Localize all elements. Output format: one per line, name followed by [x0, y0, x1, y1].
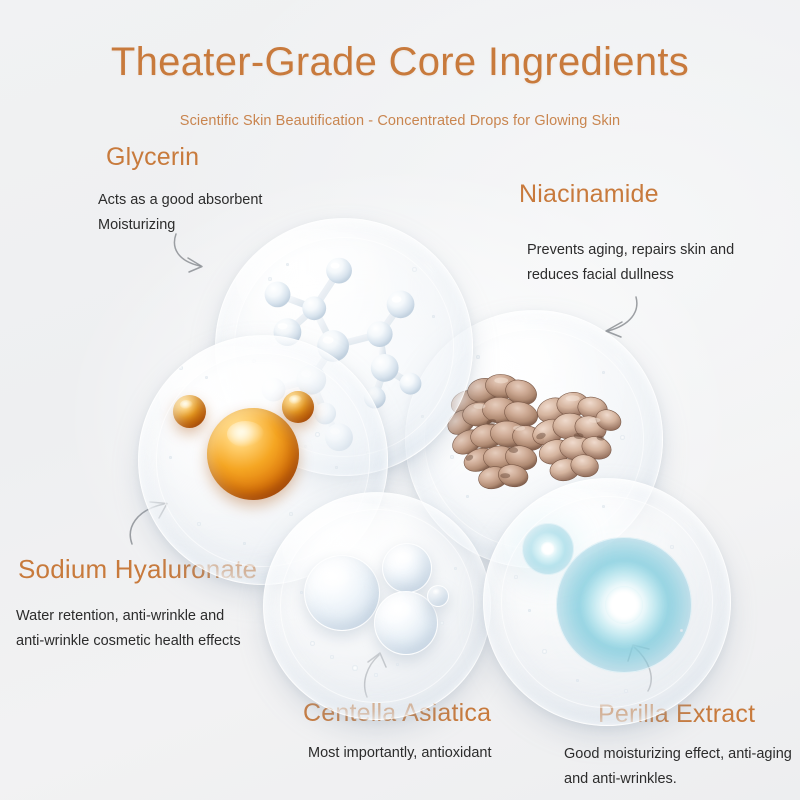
page-subtitle: Scientific Skin Beautification - Concent…	[0, 113, 800, 129]
starburst-highlight-small	[540, 541, 555, 556]
water-sphere-small	[427, 585, 449, 607]
water-sphere-large	[304, 555, 380, 631]
description-line: and anti-wrinkles.	[564, 767, 792, 792]
ingredient-name-niacinamide: Niacinamide	[519, 180, 659, 209]
ingredient-description-niacinamide: Prevents aging, repairs skin and reduces…	[527, 238, 734, 289]
ingredients-infographic: Theater-Grade Core Ingredients Scientifi…	[0, 0, 800, 800]
amber-droplet-small-left	[173, 395, 206, 428]
amber-droplet-large	[207, 408, 299, 500]
teal-droplet-large	[556, 537, 692, 673]
description-line: Good moisturizing effect, anti-aging	[564, 742, 792, 767]
arrow-icon-glycerin	[168, 228, 220, 278]
ingredient-description-sodium-hyaluronate: Water retention, anti-wrinkle and anti-w…	[16, 604, 241, 655]
description-line: Prevents aging, repairs skin and	[527, 238, 734, 263]
ingredient-description-centella-asiatica: Most importantly, antioxidant	[308, 741, 491, 766]
description-line: Water retention, anti-wrinkle and	[16, 604, 241, 629]
page-title: Theater-Grade Core Ingredients	[0, 40, 800, 85]
ingredient-description-perilla-extract: Good moisturizing effect, anti-aging and…	[564, 742, 792, 793]
starburst-highlight-large	[605, 586, 643, 624]
description-line: reduces facial dullness	[527, 263, 734, 288]
description-line: Most importantly, antioxidant	[308, 741, 491, 766]
water-sphere-lower	[374, 591, 438, 655]
ingredient-name-glycerin: Glycerin	[106, 143, 199, 172]
petri-dish-centella-asiatica	[263, 492, 491, 720]
teal-droplet-small	[522, 523, 574, 575]
petri-dish-perilla-extract	[483, 478, 731, 726]
description-line: Acts as a good absorbent	[98, 188, 262, 213]
description-line: anti-wrinkle cosmetic health effects	[16, 629, 241, 654]
water-sphere-top	[382, 543, 432, 593]
amber-droplet-small-right	[282, 391, 314, 423]
